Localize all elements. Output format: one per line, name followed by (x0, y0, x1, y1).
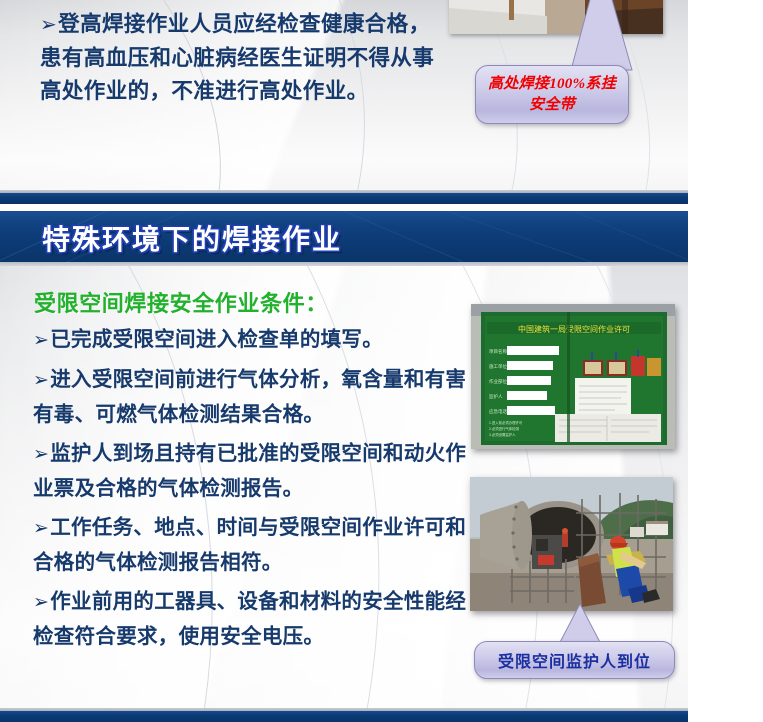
slide-2-bullet-1-text: 已完成受限空间进入检查单的填写。 (50, 328, 383, 351)
slide-2-photo-permit-board: 中国建筑一局受限空间作业许可 项目名称施工单位 作业部位监护人 应急电话 (471, 304, 675, 449)
svg-text:应急电话: 应急电话 (489, 408, 507, 415)
high-work-safety-belt-callout[interactable]: 高处焊接100%系挂安全带 (475, 65, 629, 124)
svg-text:1.进入前必须办理许可: 1.进入前必须办理许可 (489, 420, 523, 425)
slide-2-title: 特殊环境下的焊接作业 (42, 218, 342, 258)
slide-1-bullet-text: 登高焊接作业人员应经检查健康合格，患有高血压和心脏病经医生证明不得从事高处作业的… (40, 12, 434, 103)
slide-2-bullet-2-text: 进入受限空间前进行气体分析，氧含量和有害有毒、可燃气体检测结果合格。 (33, 368, 466, 426)
slide-1-body: ➢登高焊接作业人员应经检查健康合格，患有高血压和心脏病经医生证明不得从事高处作业… (40, 8, 440, 108)
confined-space-permit-board-photo: 中国建筑一局受限空间作业许可 项目名称施工单位 作业部位监护人 应急电话 (471, 304, 675, 449)
callout-1-tail (535, 0, 635, 72)
slide-2-bullet-3-text: 监护人到场且持有已批准的受限空间和动火作业票及合格的气体检测报告。 (33, 442, 466, 500)
bullet-marker-icon: ➢ (33, 444, 49, 465)
slide-2-bullet-3: ➢监护人到场且持有已批准的受限空间和动火作业票及合格的气体检测报告。 (33, 437, 467, 506)
slide-2-bullet-5-text: 作业前用的工器具、设备和材料的安全性能经检查符合要求，使用安全电压。 (33, 590, 466, 648)
svg-text:中国建筑一局受限空间作业许可: 中国建筑一局受限空间作业许可 (518, 324, 630, 334)
bullet-marker-icon: ➢ (33, 592, 49, 613)
rotary-kiln-worksite-photo (470, 477, 673, 611)
slide-2-body: ➢已完成受限空间进入检查单的填写。 ➢进入受限空间前进行气体分析，氧含量和有害有… (33, 323, 467, 659)
svg-text:3.必须设置监护人: 3.必须设置监护人 (489, 432, 516, 437)
callout-1-text: 高处焊接100%系挂安全带 (476, 74, 628, 116)
svg-text:监护人: 监护人 (489, 393, 503, 400)
svg-text:作业部位: 作业部位 (489, 378, 507, 385)
slide-2-title-bar: 特殊环境下的焊接作业 (0, 211, 688, 262)
slide-deck-page: ➢登高焊接作业人员应经检查健康合格，患有高血压和心脏病经医生证明不得从事高处作业… (0, 0, 763, 722)
bullet-marker-icon: ➢ (33, 370, 49, 391)
slide-2-photo-worksite (470, 477, 673, 611)
slide-2-bullet-1: ➢已完成受限空间进入检查单的填写。 (33, 323, 467, 358)
bullet-marker-icon: ➢ (33, 518, 49, 539)
slide-2-section-heading: 受限空间焊接安全作业条件： (34, 286, 328, 318)
slide-2-bullet-4: ➢工作任务、地点、时间与受限空间作业许可和合格的气体检测报告相符。 (33, 511, 467, 580)
slide-2-bullet-5: ➢作业前用的工器具、设备和材料的安全性能经检查符合要求，使用安全电压。 (33, 585, 467, 654)
slide-2-footer-bar (0, 711, 688, 722)
slide-2-bullet-4-text: 工作任务、地点、时间与受限空间作业许可和合格的气体检测报告相符。 (33, 516, 466, 574)
confined-space-attendant-callout[interactable]: 受限空间监护人到位 (474, 641, 675, 679)
callout-2-text: 受限空间监护人到位 (498, 648, 651, 672)
slide-2-title-underline (0, 262, 688, 266)
svg-text:项目名称: 项目名称 (489, 348, 507, 355)
bullet-marker-icon: ➢ (33, 330, 49, 351)
svg-text:施工单位: 施工单位 (489, 363, 507, 370)
bullet-marker-icon: ➢ (40, 14, 57, 36)
slide-1-footer-bar (0, 193, 688, 204)
svg-text:2.必须进行气体检测: 2.必须进行气体检测 (489, 426, 520, 431)
slide-2-bullet-2: ➢进入受限空间前进行气体分析，氧含量和有害有毒、可燃气体检测结果合格。 (33, 363, 467, 432)
